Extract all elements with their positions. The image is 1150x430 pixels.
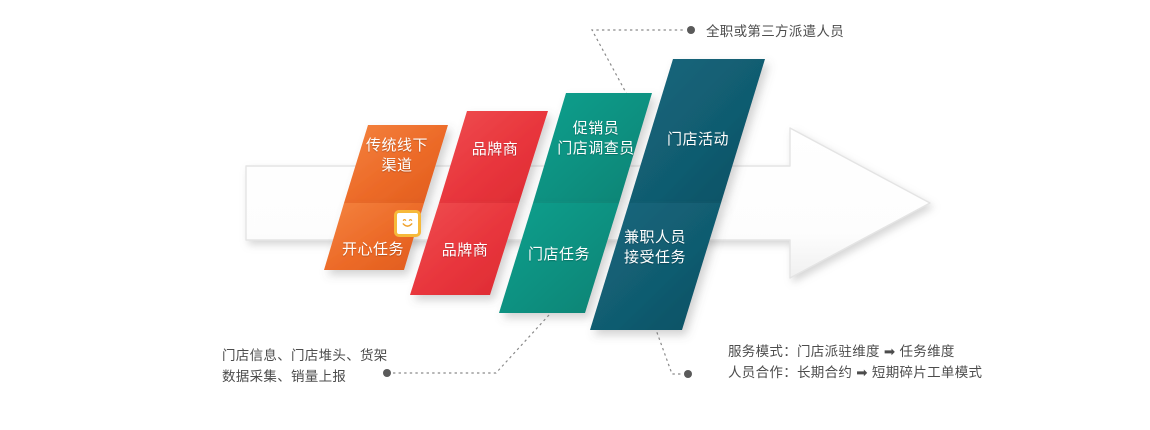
annotation-top-right: 全职或第三方派遣人员 <box>706 21 844 42</box>
annotation-bottom-left: 门店信息、门店堆头、货架 数据采集、销量上报 <box>222 345 388 387</box>
annotation-bottom-right: 服务模式：门店派驻维度 ➡ 任务维度 人员合作：长期合约 ➡ 短期碎片工单模式 <box>728 341 982 383</box>
connector-bottom-right <box>655 327 692 378</box>
connector-bottom-left <box>383 315 549 377</box>
smiley-face-icon <box>394 210 421 237</box>
diagram-canvas: 传统线下 渠道 品牌商 促销员 门店调查员 门店活动 开心任务 品牌商 门店任务… <box>0 0 1150 430</box>
